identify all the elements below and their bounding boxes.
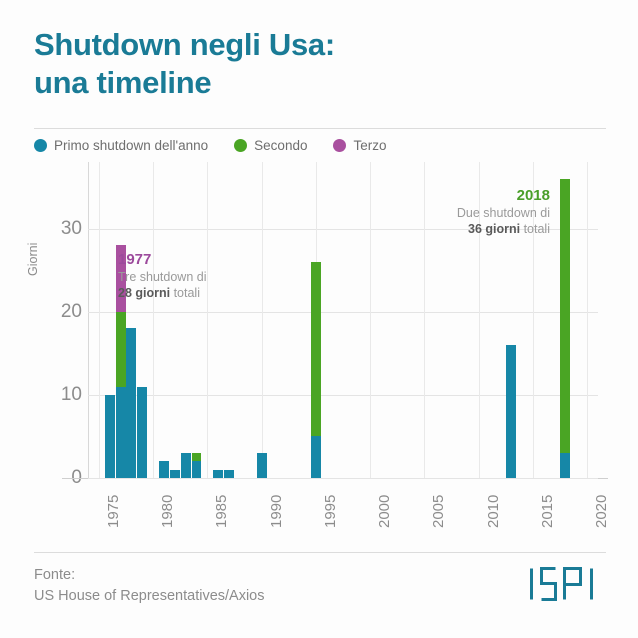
gridline-vertical xyxy=(370,162,371,478)
annotation-2018-line1: Due shutdown di xyxy=(420,205,550,221)
ispi-logo xyxy=(528,567,606,606)
bar-1995[interactable] xyxy=(311,262,321,478)
bar-1978[interactable] xyxy=(126,328,136,478)
bar-2013[interactable] xyxy=(506,345,516,478)
bar-segment-primo xyxy=(257,453,267,478)
x-tick-label: 2020 xyxy=(593,495,610,528)
bar-1976[interactable] xyxy=(105,395,115,478)
annotation-1977-year: 1977 xyxy=(118,250,206,269)
source-credit: Fonte: US House of Representatives/Axios xyxy=(34,565,265,606)
annotation-2018-totali: totali xyxy=(520,222,550,236)
bar-1981[interactable] xyxy=(159,461,169,478)
annotation-1977: 1977 Tre shutdown di 28 giorni totali xyxy=(118,250,206,301)
ispi-logo-icon xyxy=(528,567,606,601)
annotation-1977-totali: totali xyxy=(170,286,200,300)
x-axis-tick-labels: 1975198019851990199520002005201020152020 xyxy=(88,482,598,542)
bar-segment-primo xyxy=(224,470,234,478)
gridline-vertical xyxy=(207,162,208,478)
bar-1990[interactable] xyxy=(257,453,267,478)
bar-segment-secondo xyxy=(560,179,570,453)
gridline-horizontal xyxy=(88,395,598,396)
bar-segment-primo xyxy=(506,345,516,478)
gridline-vertical xyxy=(587,162,588,478)
bar-segment-primo xyxy=(192,461,202,478)
x-tick-label: 2015 xyxy=(539,495,556,528)
bar-1987[interactable] xyxy=(224,470,234,478)
source-label: Fonte: xyxy=(34,565,265,586)
x-tick-label: 1975 xyxy=(105,495,122,528)
y-tick-label: 30 xyxy=(48,219,82,238)
bar-1986[interactable] xyxy=(213,470,223,478)
x-tick-label: 2005 xyxy=(430,495,447,528)
bar-segment-primo xyxy=(116,387,126,478)
bar-segment-primo xyxy=(126,328,136,478)
infographic-canvas: Shutdown negli Usa: una timeline Primo s… xyxy=(0,0,638,638)
x-tick-label: 1990 xyxy=(268,495,285,528)
annotation-2018: 2018 Due shutdown di 36 giorni totali xyxy=(420,186,550,237)
x-tick-label: 1995 xyxy=(322,495,339,528)
bar-1982[interactable] xyxy=(170,470,180,478)
bar-segment-primo xyxy=(181,453,191,478)
footer: Fonte: US House of Representatives/Axios xyxy=(34,552,606,606)
source-value: US House of Representatives/Axios xyxy=(34,586,265,607)
x-tick-label: 1985 xyxy=(213,495,230,528)
gridline-horizontal xyxy=(88,478,598,479)
x-tick-label: 2000 xyxy=(376,495,393,528)
bar-1983[interactable] xyxy=(181,453,191,478)
annotation-2018-line2: 36 giorni totali xyxy=(420,221,550,237)
bar-1979[interactable] xyxy=(137,387,147,478)
x-tick-label: 1980 xyxy=(159,495,176,528)
annotation-1977-line2: 28 giorni totali xyxy=(118,285,206,301)
y-tick-label: 10 xyxy=(48,385,82,404)
bar-segment-primo xyxy=(137,387,147,478)
bar-segment-primo xyxy=(170,470,180,478)
gridline-horizontal xyxy=(88,312,598,313)
gridline-vertical xyxy=(153,162,154,478)
bar-segment-primo xyxy=(105,395,115,478)
gridline-vertical xyxy=(262,162,263,478)
bar-segment-secondo xyxy=(192,453,202,461)
bar-segment-secondo xyxy=(311,262,321,437)
bar-segment-primo xyxy=(159,461,169,478)
y-axis-tick-labels: 0102030 xyxy=(48,0,82,638)
bar-segment-primo xyxy=(560,453,570,478)
annotation-2018-days: 36 giorni xyxy=(468,222,520,236)
chart-plot-wrapper: Giorni 0102030 1975198019851990199520002… xyxy=(0,0,638,638)
y-axis-title: Giorni xyxy=(26,243,40,276)
bar-segment-primo xyxy=(311,436,321,478)
bar-1984[interactable] xyxy=(192,453,202,478)
annotation-1977-line1: Tre shutdown di xyxy=(118,269,206,285)
annotation-2018-year: 2018 xyxy=(420,186,550,205)
bar-2018[interactable] xyxy=(560,179,570,478)
bar-segment-secondo xyxy=(116,312,126,387)
x-tick-label: 2010 xyxy=(485,495,502,528)
annotation-1977-days: 28 giorni xyxy=(118,286,170,300)
bar-segment-primo xyxy=(213,470,223,478)
y-tick-label: 20 xyxy=(48,302,82,321)
gridline-vertical xyxy=(99,162,100,478)
